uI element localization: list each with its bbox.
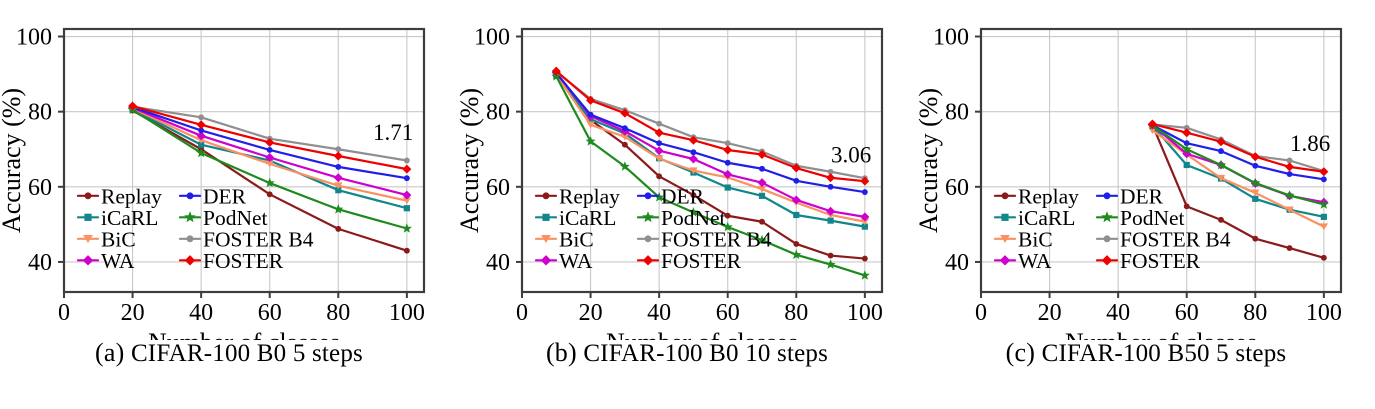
svg-text:WA: WA xyxy=(101,249,135,273)
svg-text:60: 60 xyxy=(716,300,740,326)
svg-text:Replay: Replay xyxy=(1018,184,1079,208)
caption-a-label: (a) xyxy=(95,338,124,367)
svg-text:0: 0 xyxy=(975,300,987,326)
svg-text:20: 20 xyxy=(121,300,145,326)
svg-text:40: 40 xyxy=(189,300,213,326)
svg-text:DER: DER xyxy=(1120,184,1164,208)
svg-text:PodNet: PodNet xyxy=(1120,206,1185,230)
svg-text:DER: DER xyxy=(203,184,247,208)
svg-text:20: 20 xyxy=(579,300,603,326)
svg-text:Replay: Replay xyxy=(559,184,620,208)
caption-a: (a) CIFAR-100 B0 5 steps xyxy=(0,338,458,368)
caption-a-text: CIFAR-100 B0 5 steps xyxy=(131,340,363,367)
svg-text:Accuracy (%): Accuracy (%) xyxy=(458,88,484,233)
svg-text:1.71: 1.71 xyxy=(373,120,413,145)
svg-text:BiC: BiC xyxy=(101,227,136,251)
svg-text:100: 100 xyxy=(847,300,883,326)
svg-text:3.06: 3.06 xyxy=(831,142,871,167)
svg-text:40: 40 xyxy=(1106,300,1130,326)
svg-text:FOSTER: FOSTER xyxy=(203,249,284,273)
plot-a: 020406080100406080100Number of classesAc… xyxy=(0,0,458,340)
svg-text:BiC: BiC xyxy=(559,227,594,251)
svg-text:80: 80 xyxy=(28,100,52,126)
svg-text:60: 60 xyxy=(945,175,969,201)
svg-text:PodNet: PodNet xyxy=(203,206,268,230)
caption-c-label: (c) xyxy=(1006,338,1035,367)
panel-a: 020406080100406080100Number of classesAc… xyxy=(0,0,458,409)
svg-text:WA: WA xyxy=(1018,249,1052,273)
caption-c: (c) CIFAR-100 B50 5 steps xyxy=(917,338,1375,368)
caption-b: (b) CIFAR-100 B0 10 steps xyxy=(458,338,916,368)
svg-text:40: 40 xyxy=(486,250,510,276)
caption-c-text: CIFAR-100 B50 5 steps xyxy=(1042,340,1287,367)
svg-text:100: 100 xyxy=(16,25,52,51)
svg-text:60: 60 xyxy=(486,175,510,201)
svg-text:Accuracy (%): Accuracy (%) xyxy=(917,88,943,233)
svg-text:FOSTER B4: FOSTER B4 xyxy=(203,227,314,251)
svg-text:100: 100 xyxy=(1306,300,1342,326)
svg-text:0: 0 xyxy=(58,300,70,326)
plot-b: 020406080100406080100Number of classesAc… xyxy=(458,0,916,340)
svg-text:PodNet: PodNet xyxy=(661,206,726,230)
svg-text:80: 80 xyxy=(326,300,350,326)
plot-c: 020406080100406080100Number of classesAc… xyxy=(917,0,1375,340)
svg-text:DER: DER xyxy=(661,184,705,208)
svg-text:FOSTER B4: FOSTER B4 xyxy=(1120,227,1231,251)
svg-text:80: 80 xyxy=(784,300,808,326)
caption-b-label: (b) xyxy=(546,338,577,367)
svg-text:40: 40 xyxy=(647,300,671,326)
panel-c: 020406080100406080100Number of classesAc… xyxy=(917,0,1375,409)
svg-text:FOSTER: FOSTER xyxy=(661,249,742,273)
svg-text:60: 60 xyxy=(1175,300,1199,326)
svg-text:1.86: 1.86 xyxy=(1290,131,1330,156)
svg-text:80: 80 xyxy=(1243,300,1267,326)
svg-text:100: 100 xyxy=(389,300,425,326)
svg-text:60: 60 xyxy=(258,300,282,326)
panel-b: 020406080100406080100Number of classesAc… xyxy=(458,0,916,409)
svg-text:20: 20 xyxy=(1038,300,1062,326)
svg-text:40: 40 xyxy=(28,250,52,276)
svg-text:0: 0 xyxy=(516,300,528,326)
svg-text:80: 80 xyxy=(945,100,969,126)
svg-text:100: 100 xyxy=(933,25,969,51)
svg-text:iCaRL: iCaRL xyxy=(559,206,616,230)
svg-text:100: 100 xyxy=(474,25,510,51)
svg-text:Accuracy (%): Accuracy (%) xyxy=(0,88,26,233)
caption-b-text: CIFAR-100 B0 10 steps xyxy=(583,340,828,367)
svg-text:iCaRL: iCaRL xyxy=(1018,206,1075,230)
svg-text:Replay: Replay xyxy=(101,184,162,208)
svg-text:FOSTER: FOSTER xyxy=(1120,249,1201,273)
svg-text:FOSTER B4: FOSTER B4 xyxy=(661,227,772,251)
svg-text:80: 80 xyxy=(486,100,510,126)
figure-root: 020406080100406080100Number of classesAc… xyxy=(0,0,1375,409)
svg-text:60: 60 xyxy=(28,175,52,201)
svg-text:40: 40 xyxy=(945,250,969,276)
svg-text:iCaRL: iCaRL xyxy=(101,206,158,230)
svg-text:WA: WA xyxy=(559,249,593,273)
svg-text:BiC: BiC xyxy=(1018,227,1053,251)
